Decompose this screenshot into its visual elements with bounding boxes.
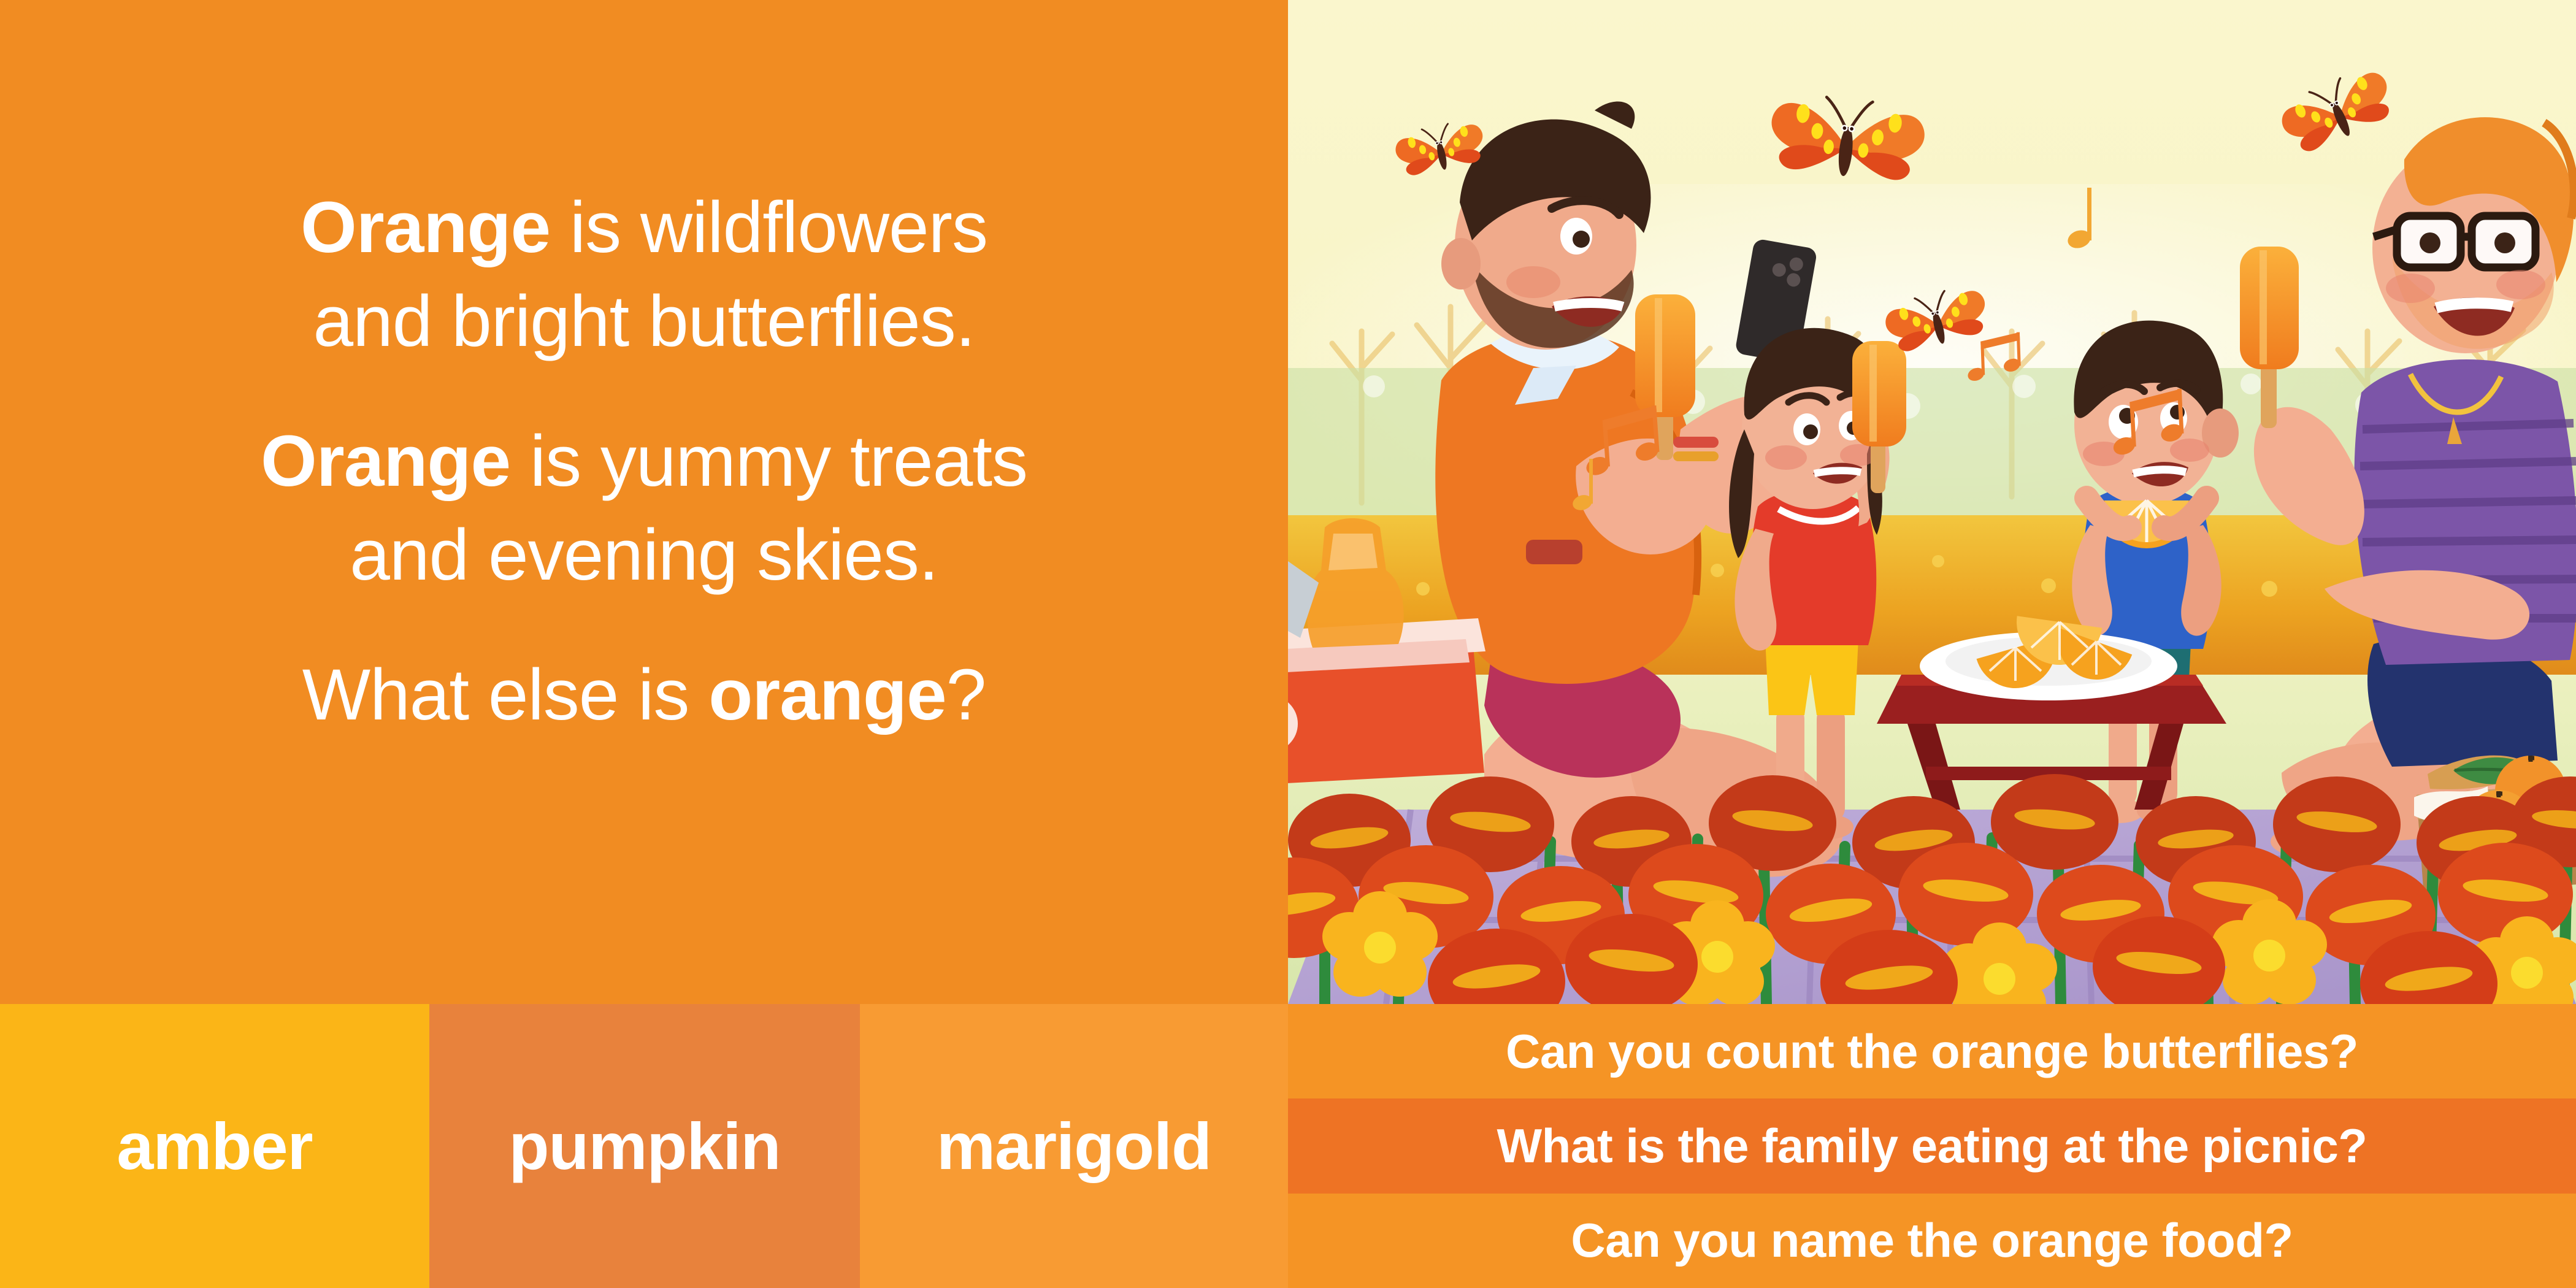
illustration-artwork <box>1288 0 2576 1004</box>
verse-keyword-orange-2: Orange <box>261 421 510 502</box>
text-panel: Orange is wildflowers and bright butterf… <box>0 0 1288 1004</box>
verse-line-3-rest: is yummy treats <box>510 421 1027 502</box>
verse-keyword-orange-3: orange <box>708 654 946 735</box>
poppy-field <box>1288 774 2576 1004</box>
verse-stanza-1: Orange is wildflowers and bright butterf… <box>0 181 1288 369</box>
question-butterflies[interactable]: Can you count the orange butterflies? <box>1288 1004 2576 1098</box>
book-spread: Orange is wildflowers and bright butterf… <box>0 0 2576 1288</box>
verse-line-4: and evening skies. <box>0 508 1288 602</box>
verse-stanza-3: What else is orange? <box>0 648 1288 742</box>
swatch-amber[interactable]: amber <box>0 1004 429 1288</box>
verse-question: What else is orange? <box>0 648 1288 742</box>
swatch-pumpkin[interactable]: pumpkin <box>429 1004 860 1288</box>
verse-question-head: What else is <box>302 654 708 735</box>
swatch-marigold[interactable]: marigold <box>860 1004 1288 1288</box>
verse-line-2: and bright butterflies. <box>0 275 1288 369</box>
verse-line-1-rest: is wildflowers <box>550 187 987 268</box>
verse-line-3: Orange is yummy treats <box>0 415 1288 508</box>
color-swatch-strip: amber pumpkin marigold <box>0 1004 1288 1288</box>
verse-keyword-orange: Orange <box>301 187 550 268</box>
question-picnic-food[interactable]: What is the family eating at the picnic? <box>1288 1098 2576 1193</box>
question-bars: Can you count the orange butterflies? Wh… <box>1288 1004 2576 1288</box>
verse-block: Orange is wildflowers and bright butterf… <box>0 181 1288 742</box>
question-orange-food[interactable]: Can you name the orange food? <box>1288 1194 2576 1288</box>
picnic-illustration <box>1288 0 2576 1004</box>
verse-stanza-2: Orange is yummy treats and evening skies… <box>0 415 1288 603</box>
verse-question-tail: ? <box>946 654 986 735</box>
verse-line-1: Orange is wildflowers <box>0 181 1288 275</box>
